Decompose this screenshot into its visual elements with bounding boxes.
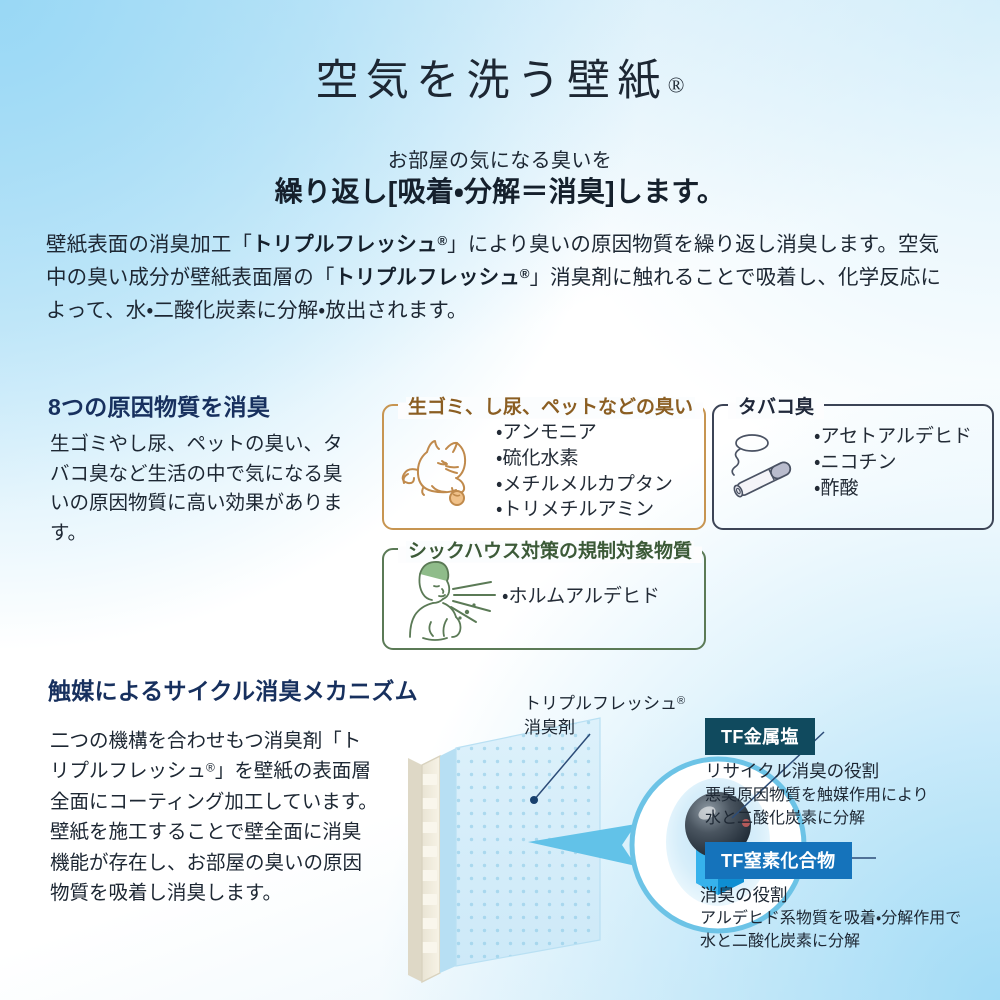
coughing-man-icon [398,556,516,642]
callout-desc-tf-metal-salt: 悪臭原因物質を触媒作用により 水と二酸化炭素に分解 [705,785,929,830]
page-title: 空気を洗う壁紙® [0,46,1000,108]
brand-name-1: トリプルフレッシュ [252,233,437,256]
lead-paragraph: 壁紙表面の消臭加工「トリプルフレッシュ®」により臭いの原因物質を繰り返し消臭しま… [46,228,958,328]
registered-mark-icon: ® [206,761,215,775]
callout-desc-tf-nitrogen-compound: アルデヒド系物質を吸着・分解作用で 水と二酸化炭素に分解 [700,908,961,953]
agent-label: トリプルフレッシュ® 消臭剤 [524,692,685,740]
subtitle-line-2: 繰り返し[吸着・分解＝消臭]します。 [0,170,1000,210]
agent-label-line-1: トリプルフレッシュ® [524,692,685,716]
section-1-heading: 8つの原因物質を消臭 [48,388,270,422]
registered-mark-icon: ® [437,233,447,248]
odor-box-tobacco: タバコ臭 ・アセトアルデヒド ・ニコチン ・酢酸 [712,404,994,530]
odor-box-sickhouse: シックハウス対策の規制対象物質 [382,548,706,650]
registered-mark-icon: ® [677,695,685,707]
list-item: ・ホルムアルデヒド [502,584,660,610]
section-2-paragraph: 二つの機構を合わせもつ消臭剤「トリプルフレッシュ®」を壁紙の表面層全面にコーティ… [50,726,380,908]
odor-box-waste-list: ・アンモニア ・硫化水素 ・メチルメルカプタン ・トリメチルアミン [496,420,673,523]
odor-box-waste: 生ゴミ、し尿、ペットなどの臭い ・アンモニア [382,404,706,530]
callout-desc-line: 水と二酸化炭素に分解 [705,808,929,831]
list-item: ・アンモニア [496,420,673,446]
agent-label-line-2: 消臭剤 [524,716,685,740]
list-item: ・アセトアルデヒド [814,424,972,450]
status-badge-tf-metal-salt: TF金属塩 [705,718,815,755]
page-title-text: 空気を洗う壁紙 [316,58,668,105]
mechanism-diagram: トリプルフレッシュ® 消臭剤 TF金属塩 リサイクル消臭の役割 悪臭原因物質を触… [400,690,1000,985]
section-2-heading: 触媒によるサイクル消臭メカニズム [48,672,418,706]
callout-desc-line: アルデヒド系物質を吸着・分解作用で [700,908,961,931]
section-1-paragraph: 生ゴミやし尿、ペットの臭い、タバコ臭など生活の中で気になる臭いの原因物質に高い効… [50,430,355,549]
infographic-page: 空気を洗う壁紙® お部屋の気になる臭いを 繰り返し[吸着・分解＝消臭]します。 … [0,0,1000,1000]
lead-part-1: 壁紙表面の消臭加工「 [46,233,252,256]
callout-role-tf-metal-salt: リサイクル消臭の役割 [705,758,879,783]
subtitle-line-1: お部屋の気になる臭いを [0,144,1000,173]
list-item: ・トリメチルアミン [496,497,673,523]
list-item: ・硫化水素 [496,446,673,472]
callout-desc-line: 悪臭原因物質を触媒作用により [705,785,929,808]
registered-mark-icon: ® [668,72,685,97]
callout-role-tf-nitrogen-compound: 消臭の役割 [700,882,788,907]
odor-box-tobacco-list: ・アセトアルデヒド ・ニコチン ・酢酸 [814,424,972,501]
cigarette-icon [722,432,808,504]
odor-box-waste-legend: 生ゴミ、し尿、ペットなどの臭い [398,392,703,419]
status-badge-tf-nitrogen-compound: TF窒素化合物 [705,842,852,879]
callout-desc-line: 水と二酸化炭素に分解 [700,931,961,954]
odor-box-tobacco-legend: タバコ臭 [728,392,824,419]
list-item: ・酢酸 [814,476,972,502]
list-item: ・ニコチン [814,450,972,476]
brand-name-2: トリプルフレッシュ [334,266,519,289]
odor-box-sickhouse-list: ・ホルムアルデヒド [502,584,660,610]
registered-mark-icon: ® [520,266,530,281]
list-item: ・メチルメルカプタン [496,472,673,498]
cat-icon [394,430,490,510]
